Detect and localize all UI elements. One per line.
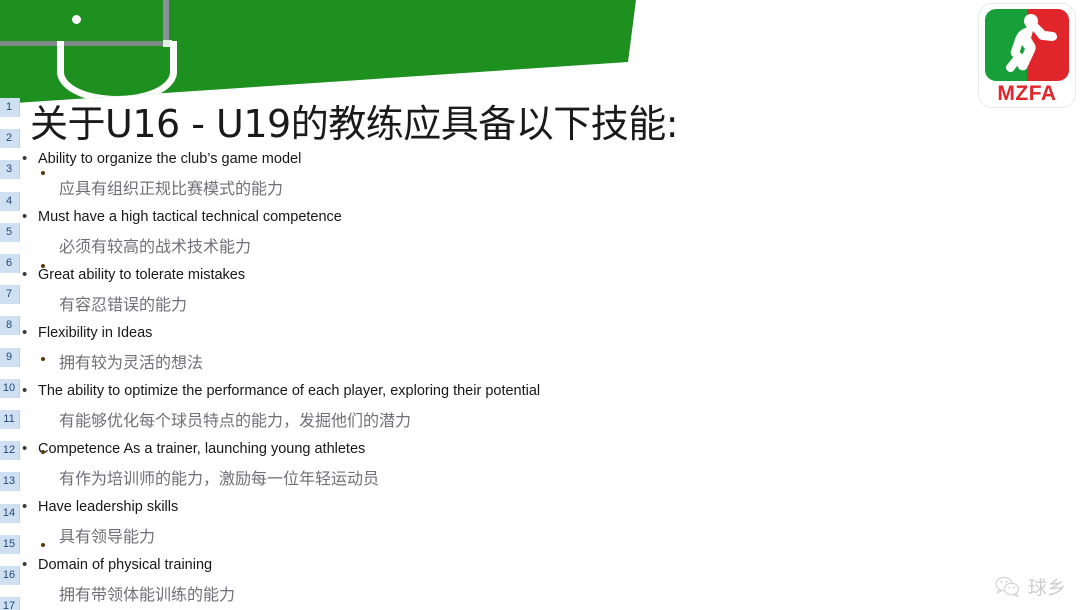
list-item: • Ability to organize the club’s game mo… <box>16 148 960 206</box>
list-item-en: Ability to organize the club’s game mode… <box>38 148 301 170</box>
list-item-en: Must have a high tactical technical comp… <box>38 206 342 228</box>
list-item: • Have leadership skills 具有领导能力 <box>16 496 960 554</box>
list-item-zh: 应具有组织正规比赛模式的能力 <box>59 172 960 206</box>
list-item: • The ability to optimize the performanc… <box>16 380 960 438</box>
list-item-en-row: • Have leadership skills <box>16 496 960 520</box>
rail-marker-dot <box>41 543 45 547</box>
slide-number-5[interactable]: 5 <box>0 223 20 242</box>
list-item-en-row: • Competence As a trainer, launching you… <box>16 438 960 462</box>
soccer-player-icon <box>985 9 1069 81</box>
bullet-list: • Ability to organize the club’s game mo… <box>16 148 960 610</box>
slide-number-rail[interactable]: 1234567891011121314151617 <box>0 0 20 610</box>
list-item-en: Competence As a trainer, launching young… <box>38 438 365 460</box>
watermark-text: 球乡 <box>1028 573 1066 600</box>
slide-number-8[interactable]: 8 <box>0 316 20 335</box>
list-item-zh: 有能够优化每个球员特点的能力，发掘他们的潜力 <box>59 404 960 438</box>
wechat-icon <box>995 576 1021 598</box>
slide-number-6[interactable]: 6 <box>0 254 20 273</box>
green-banner <box>0 0 660 110</box>
page-title: 关于U16 - U19的教练应具备以下技能: <box>30 101 678 147</box>
rail-marker-dot <box>41 357 45 361</box>
slide-number-4[interactable]: 4 <box>0 192 20 211</box>
slide-number-13[interactable]: 13 <box>0 472 20 491</box>
slide-number-16[interactable]: 16 <box>0 566 20 585</box>
slide-number-12[interactable]: 12 <box>0 441 20 460</box>
slide-number-10[interactable]: 10 <box>0 379 20 398</box>
list-item-en: Have leadership skills <box>38 496 178 518</box>
list-item: • Flexibility in Ideas 拥有较为灵活的想法 <box>16 322 960 380</box>
list-item: • Great ability to tolerate mistakes 有容忍… <box>16 264 960 322</box>
logo-wordmark: MZFA <box>979 83 1075 105</box>
list-item-en: Great ability to tolerate mistakes <box>38 264 245 286</box>
list-item-zh: 有容忍错误的能力 <box>59 288 960 322</box>
list-item-en-row: • The ability to optimize the performanc… <box>16 380 960 404</box>
watermark: 球乡 <box>995 573 1066 600</box>
pitch-penalty-line-vertical <box>163 0 169 45</box>
rail-marker-dot <box>41 264 45 268</box>
list-item-en: The ability to optimize the performance … <box>38 380 540 402</box>
slide-number-15[interactable]: 15 <box>0 535 20 554</box>
pitch-penalty-spot <box>72 15 81 24</box>
list-item: • Must have a high tactical technical co… <box>16 206 960 264</box>
slide-number-11[interactable]: 11 <box>0 410 20 429</box>
slide-number-14[interactable]: 14 <box>0 504 20 523</box>
list-item-zh: 必须有较高的战术技术能力 <box>59 230 960 264</box>
slide-number-1[interactable]: 1 <box>0 98 20 117</box>
list-item-zh: 拥有较为灵活的想法 <box>59 346 960 380</box>
slide-number-2[interactable]: 2 <box>0 129 20 148</box>
list-item: • Competence As a trainer, launching you… <box>16 438 960 496</box>
slide-number-3[interactable]: 3 <box>0 160 20 179</box>
list-item-zh: 拥有带领体能训练的能力 <box>59 578 960 610</box>
list-item-en: Domain of physical training <box>38 554 212 576</box>
list-item-en-row: • Flexibility in Ideas <box>16 322 960 346</box>
list-item-en-row: • Great ability to tolerate mistakes <box>16 264 960 288</box>
slide-number-7[interactable]: 7 <box>0 285 20 304</box>
pitch-penalty-arc <box>57 41 177 103</box>
rail-marker-dot <box>41 450 45 454</box>
slide-number-9[interactable]: 9 <box>0 348 20 367</box>
list-item-en: Flexibility in Ideas <box>38 322 152 344</box>
list-item-en-row: • Ability to organize the club’s game mo… <box>16 148 960 172</box>
list-item: • Domain of physical training 拥有带领体能训练的能… <box>16 554 960 610</box>
list-item-en-row: • Must have a high tactical technical co… <box>16 206 960 230</box>
slide-canvas: MZFA 关于U16 - U19的教练应具备以下技能: • Ability to… <box>0 0 1080 610</box>
mzfa-logo: MZFA <box>979 4 1075 107</box>
list-item-zh: 具有领导能力 <box>59 520 960 554</box>
list-item-zh: 有作为培训师的能力，激励每一位年轻运动员 <box>59 462 960 496</box>
rail-marker-dot <box>41 171 45 175</box>
logo-shield <box>985 9 1069 81</box>
list-item-en-row: • Domain of physical training <box>16 554 960 578</box>
slide-number-17[interactable]: 17 <box>0 597 20 610</box>
